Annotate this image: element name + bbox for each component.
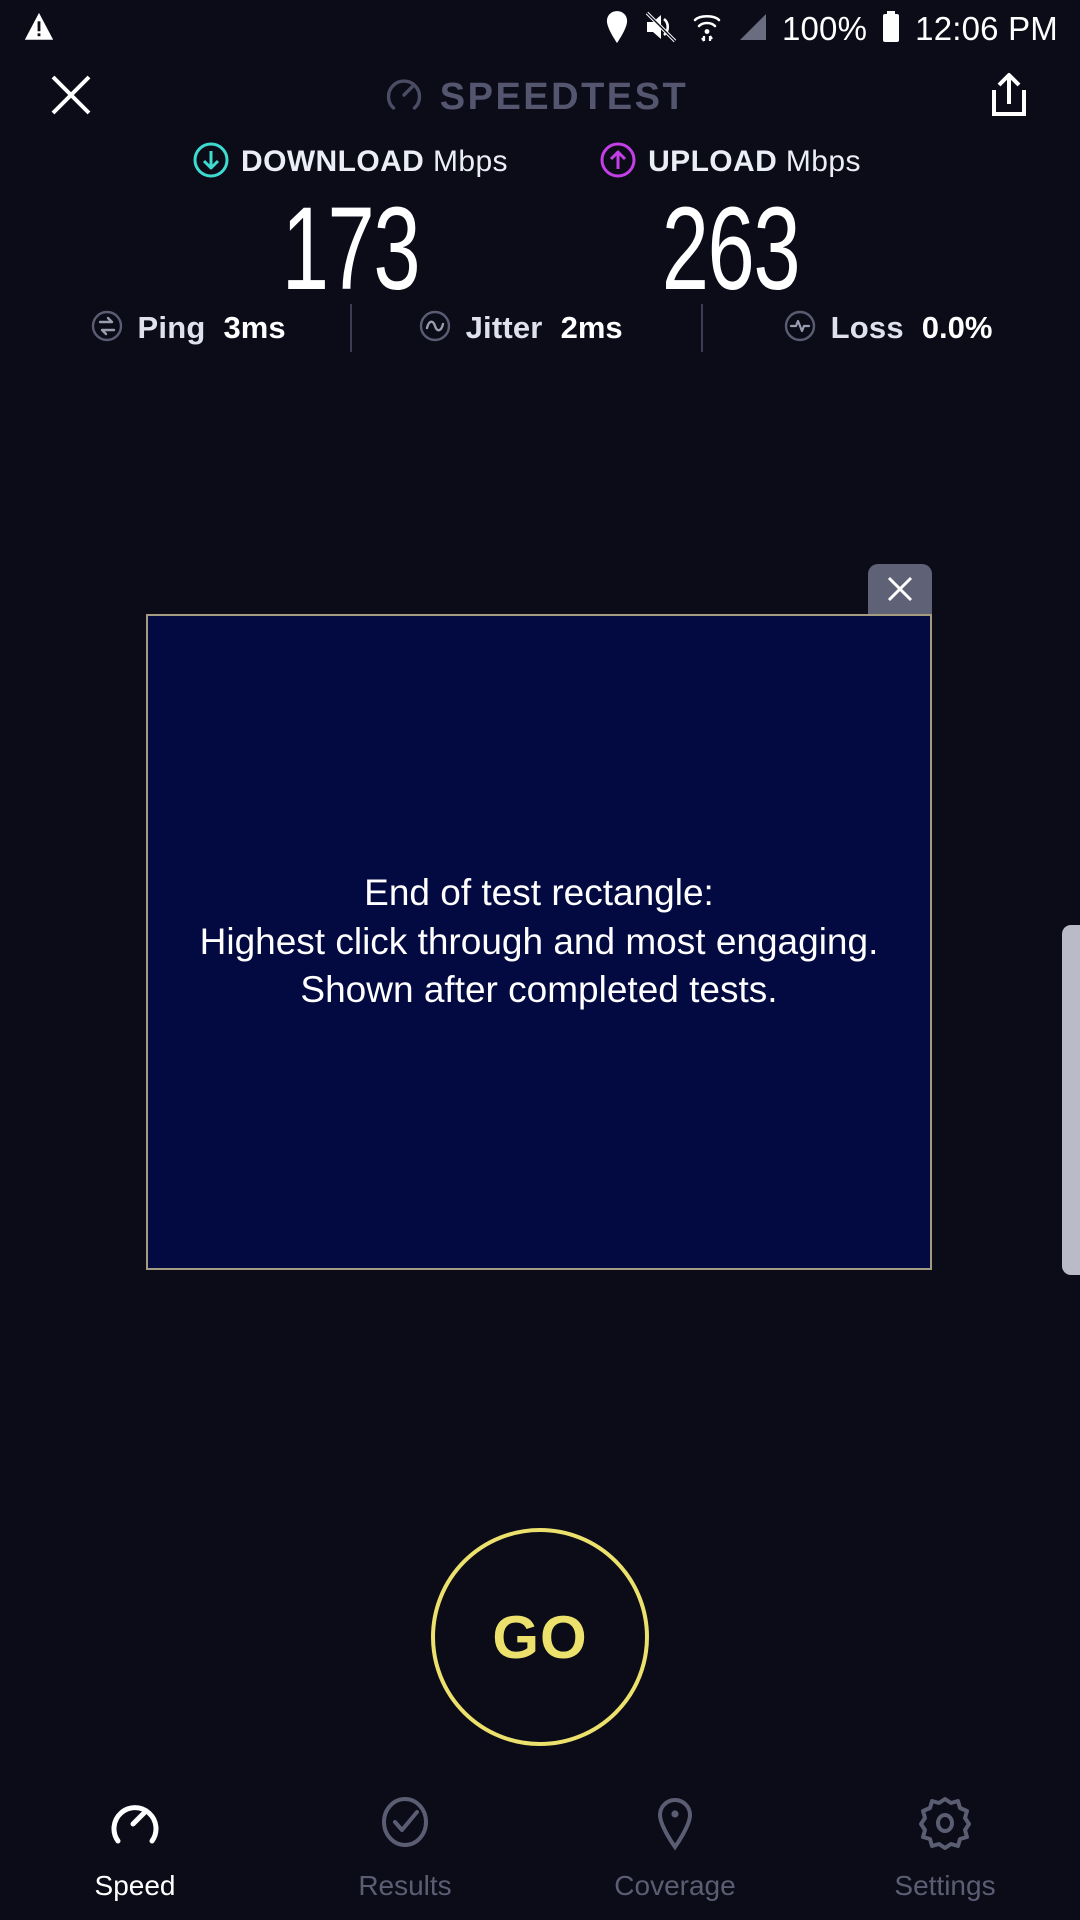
ping-value: 3ms [224,310,286,346]
cellular-signal-icon [736,11,768,48]
loss-pulse-icon [781,307,819,350]
check-circle-icon [374,1793,436,1856]
nav-item-speed[interactable]: Speed [0,1793,270,1902]
ad-text: End of test rectangle: Highest click thr… [200,869,879,1015]
loss-value: 0.0% [922,310,993,346]
ad-line-3: Shown after completed tests. [200,966,879,1015]
volume-muted-icon [644,11,678,48]
nav-label-results: Results [358,1870,451,1902]
jitter-wave-icon [416,307,454,350]
go-button[interactable]: GO [431,1528,649,1746]
divider [701,304,703,352]
download-label: DOWNLOAD Mbps [241,145,508,179]
bottom-navigation: Speed Results Coverage [0,1785,1080,1920]
upload-label: UPLOAD Mbps [648,145,861,179]
go-button-container: GO [0,1528,1080,1746]
advertisement: End of test rectangle: Highest click thr… [146,614,932,1270]
loss-metric: Loss 0.0% [781,307,993,350]
warning-triangle-icon [22,10,56,49]
results-summary: DOWNLOAD Mbps 173 UPLOAD Mbps 263 [0,140,1080,308]
download-arrow-circle-icon [192,141,230,184]
nav-label-coverage: Coverage [614,1870,735,1902]
app-header: SPEEDTEST [0,58,1080,136]
close-icon [46,70,96,125]
results-row: DOWNLOAD Mbps 173 UPLOAD Mbps 263 [0,140,1080,308]
ad-close-button[interactable] [868,564,932,618]
speedtest-app-screen: 100% 12:06 PM SPEEDTEST [0,0,1080,1920]
wifi-icon [692,10,722,49]
ping-label: Ping [138,310,206,346]
status-bar: 100% 12:06 PM [0,0,1080,58]
close-icon [883,572,917,611]
nav-label-speed: Speed [95,1870,176,1902]
battery-full-icon [881,10,901,49]
download-value: 173 [281,190,418,308]
scrollbar-thumb[interactable] [1062,925,1080,1275]
jitter-value: 2ms [561,310,623,346]
nav-item-coverage[interactable]: Coverage [540,1793,810,1902]
clock-label: 12:06 PM [915,10,1058,48]
nav-label-settings: Settings [894,1870,995,1902]
upload-result: UPLOAD Mbps 263 [540,140,920,308]
upload-arrow-circle-icon [599,141,637,184]
gear-icon [914,1793,976,1856]
ping-metric: Ping 3ms [88,307,286,350]
jitter-label: Jitter [466,310,543,346]
upload-value: 263 [661,190,798,308]
nav-item-results[interactable]: Results [270,1793,540,1902]
share-button[interactable] [976,64,1042,130]
location-pin-icon [604,10,630,49]
ad-line-1: End of test rectangle: [200,869,879,918]
jitter-metric: Jitter 2ms [416,307,623,350]
ping-exchange-icon [88,307,126,350]
download-result: DOWNLOAD Mbps 173 [160,140,540,308]
status-bar-left [22,10,56,49]
metrics-row: Ping 3ms Jitter 2ms [0,300,1080,356]
app-title-label: SPEEDTEST [440,76,688,119]
status-bar-right: 100% 12:06 PM [604,10,1058,49]
download-header: DOWNLOAD Mbps [192,140,508,184]
loss-label: Loss [831,310,904,346]
ad-banner[interactable]: End of test rectangle: Highest click thr… [146,614,932,1270]
speedometer-icon [104,1793,166,1856]
upload-header: UPLOAD Mbps [599,140,861,184]
share-icon [986,70,1032,125]
go-button-label: GO [492,1603,587,1672]
app-title: SPEEDTEST [94,73,976,122]
speedometer-icon [382,73,426,122]
location-pin-icon [644,1793,706,1856]
divider [350,304,352,352]
ad-line-2: Highest click through and most engaging. [200,918,879,967]
nav-item-settings[interactable]: Settings [810,1793,1080,1902]
battery-percent-label: 100% [782,10,867,48]
